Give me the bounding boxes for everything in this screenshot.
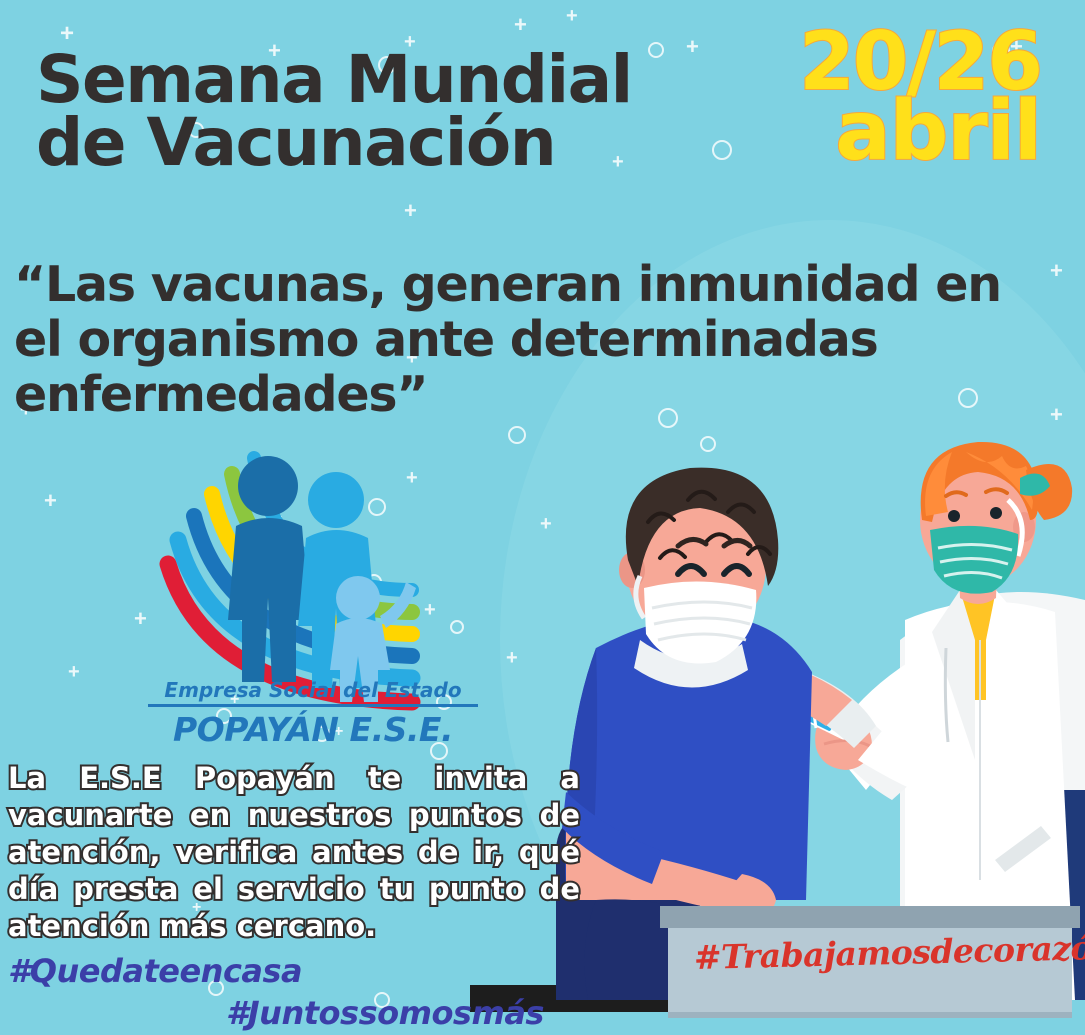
date-month: abril — [799, 97, 1041, 168]
logo-line-1: Empresa Social del Estado — [148, 678, 478, 707]
hashtag-juntossomosmas: #Juntossomosmás — [226, 994, 544, 1032]
quote-text: “Las vacunas, generan inmunidad en el or… — [14, 258, 1074, 423]
hashtag-quedateencasa: #Quedateencasa — [8, 952, 302, 990]
body-copy: La E.S.E Popayán te invita a vacunarte e… — [8, 760, 580, 946]
logo-line-2: POPAYÁN E.S.E. — [148, 710, 478, 749]
logo-text: Empresa Social del Estado POPAYÁN E.S.E. — [148, 678, 478, 749]
page-title: Semana Mundial de Vacunación — [36, 48, 726, 175]
vaccination-week-poster: + + + + + + + + + + + + + + + + + + + + … — [0, 0, 1085, 1035]
date-block: 20/26 abril — [799, 28, 1041, 167]
